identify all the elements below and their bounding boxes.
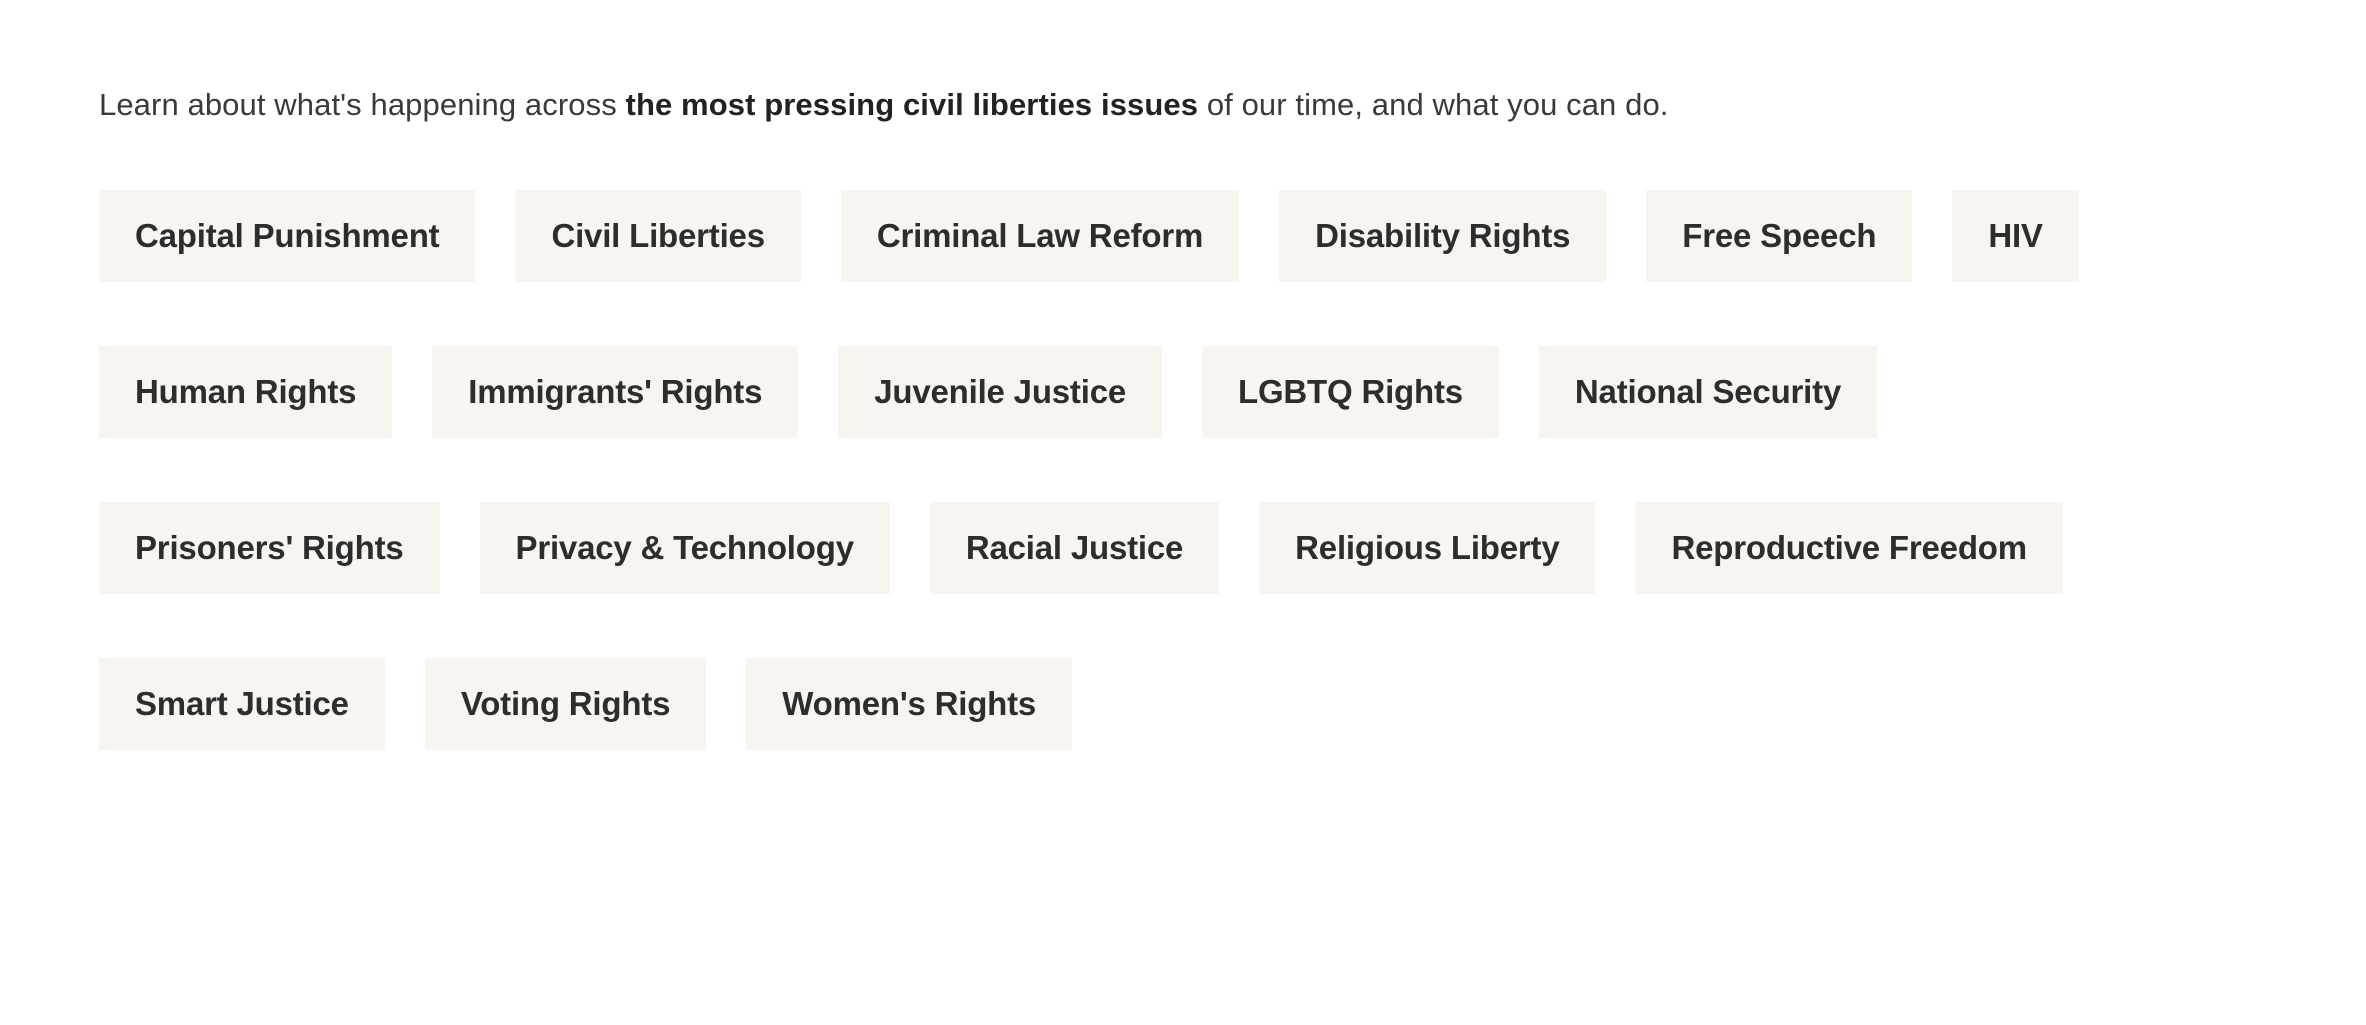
issue-tag-label: National Security xyxy=(1575,375,1841,408)
issue-tag-label: LGBTQ Rights xyxy=(1238,375,1463,408)
intro-emphasis: the most pressing civil liberties issues xyxy=(626,87,1199,122)
issue-tag-cloud: Capital Punishment Civil Liberties Crimi… xyxy=(99,190,2229,750)
issue-tag-label: Racial Justice xyxy=(966,531,1183,564)
issue-tag-label: Reproductive Freedom xyxy=(1671,531,2026,564)
issue-tag-label: Juvenile Justice xyxy=(874,375,1126,408)
issue-tag-reproductive-freedom[interactable]: Reproductive Freedom xyxy=(1635,502,2062,594)
issue-tag-label: Immigrants' Rights xyxy=(468,375,762,408)
issue-tag-label: Smart Justice xyxy=(135,687,349,720)
issue-tag-label: Prisoners' Rights xyxy=(135,531,404,564)
issue-tag-privacy-and-technology[interactable]: Privacy & Technology xyxy=(480,502,890,594)
issue-tag-lgbtq-rights[interactable]: LGBTQ Rights xyxy=(1202,346,1499,438)
issue-tag-label: Civil Liberties xyxy=(551,219,764,252)
issue-tag-hiv[interactable]: HIV xyxy=(1952,190,2078,282)
issue-tag-free-speech[interactable]: Free Speech xyxy=(1646,190,1912,282)
issue-tag-label: Voting Rights xyxy=(461,687,670,720)
issue-tag-label: Women's Rights xyxy=(782,687,1036,720)
issue-tag-label: Human Rights xyxy=(135,375,356,408)
issue-tag-smart-justice[interactable]: Smart Justice xyxy=(99,658,385,750)
issue-tag-label: Privacy & Technology xyxy=(516,531,854,564)
issue-tag-racial-justice[interactable]: Racial Justice xyxy=(930,502,1219,594)
issue-tag-label: HIV xyxy=(1988,219,2042,252)
issue-tag-womens-rights[interactable]: Women's Rights xyxy=(746,658,1072,750)
issue-tag-capital-punishment[interactable]: Capital Punishment xyxy=(99,190,475,282)
issue-tag-label: Religious Liberty xyxy=(1295,531,1559,564)
issue-tag-label: Criminal Law Reform xyxy=(877,219,1203,252)
issue-tag-national-security[interactable]: National Security xyxy=(1539,346,1877,438)
issue-tag-voting-rights[interactable]: Voting Rights xyxy=(425,658,706,750)
issues-page: Learn about what's happening across the … xyxy=(0,31,2366,1025)
issue-tag-label: Disability Rights xyxy=(1315,219,1570,252)
issue-tag-human-rights[interactable]: Human Rights xyxy=(99,346,392,438)
issue-tag-criminal-law-reform[interactable]: Criminal Law Reform xyxy=(841,190,1239,282)
issue-tag-label: Free Speech xyxy=(1682,219,1876,252)
issue-tag-disability-rights[interactable]: Disability Rights xyxy=(1279,190,1606,282)
issue-tag-religious-liberty[interactable]: Religious Liberty xyxy=(1259,502,1595,594)
intro-text-after: of our time, and what you can do. xyxy=(1198,87,1668,122)
intro-paragraph: Learn about what's happening across the … xyxy=(99,31,2306,128)
issue-tag-label: Capital Punishment xyxy=(135,219,439,252)
issue-tag-civil-liberties[interactable]: Civil Liberties xyxy=(515,190,800,282)
issue-tag-prisoners-rights[interactable]: Prisoners' Rights xyxy=(99,502,440,594)
intro-text-before: Learn about what's happening across xyxy=(99,87,626,122)
issue-tag-juvenile-justice[interactable]: Juvenile Justice xyxy=(838,346,1162,438)
issue-tag-immigrants-rights[interactable]: Immigrants' Rights xyxy=(432,346,798,438)
